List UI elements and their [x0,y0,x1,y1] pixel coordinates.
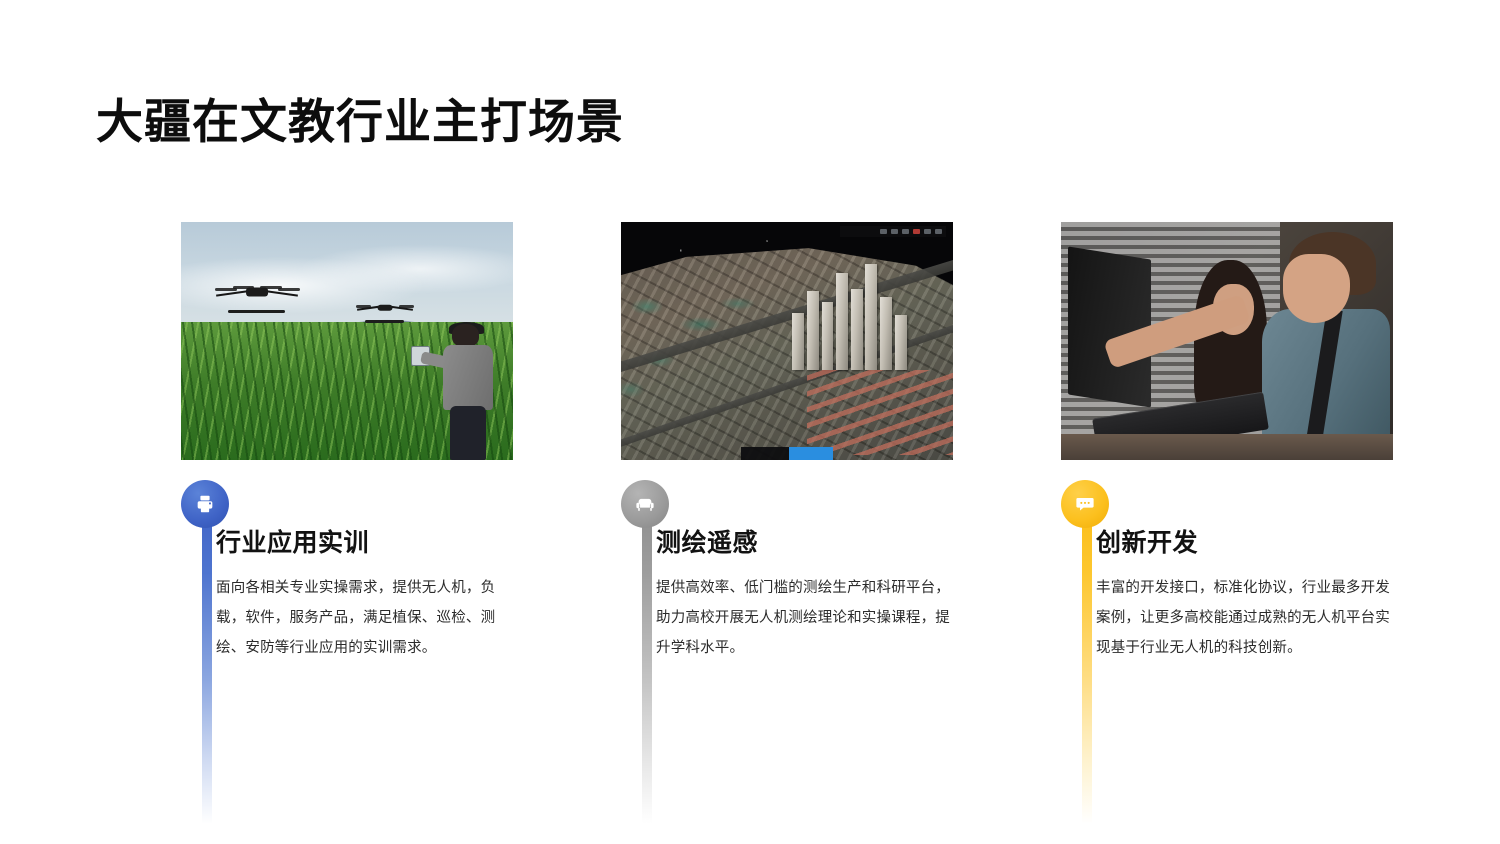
pin-stem [202,502,212,824]
viewer-toolbar[interactable] [840,226,946,238]
drone-icon [360,298,410,317]
scenario-description: 丰富的开发接口，标准化协议，行业最多开发案例，让更多高校能通过成熟的无人机平台实… [1096,574,1402,663]
man-figure [1257,232,1390,460]
armchair-icon-badge[interactable] [621,480,669,528]
scenario-column-innovation-development: 创新开发 丰富的开发接口，标准化协议，行业最多开发案例，让更多高校能通过成熟的无… [1061,222,1421,460]
scenario-description: 提供高效率、低门槛的测绘生产和科研平台，助力高校开展无人机测绘理论和实操课程，提… [656,574,962,663]
office-collaboration-photo [1061,222,1393,460]
printer-icon [194,493,216,515]
drone-icon [221,279,294,305]
agricultural-drone-field-photo [181,222,513,460]
scenario-column-surveying-remote-sensing: 测绘遥感 提供高效率、低门槛的测绘生产和科研平台，助力高校开展无人机测绘理论和实… [621,222,981,460]
viewer-primary-button[interactable] [789,447,834,460]
viewer-bottom-bar[interactable] [741,447,834,460]
scenario-column-industry-application-training: 行业应用实训 面向各相关专业实操需求，提供无人机，负载，软件，服务产品，满足植保… [181,222,541,460]
3d-city-model-photo [621,222,953,460]
chat-bubble-icon-badge[interactable] [1061,480,1109,528]
pin-stem [642,502,652,824]
scenario-text-block: 行业应用实训 面向各相关专业实操需求，提供无人机，负载，软件，服务产品，满足植保… [216,528,522,663]
desk-layer [1061,434,1393,460]
armchair-icon [634,493,656,515]
pin-stem [1082,502,1092,824]
scenario-text-block: 测绘遥感 提供高效率、低门槛的测绘生产和科研平台，助力高校开展无人机测绘理论和实… [656,528,962,663]
scenario-description: 面向各相关专业实操需求，提供无人机，负载，软件，服务产品，满足植保、巡检、测绘、… [216,574,522,663]
scenario-text-block: 创新开发 丰富的开发接口，标准化协议，行业最多开发案例，让更多高校能通过成熟的无… [1096,528,1402,663]
slide-canvas: 大疆在文教行业主打场景 [0,0,1500,844]
page-title: 大疆在文教行业主打场景 [96,95,624,149]
chat-bubble-icon [1074,493,1096,515]
scenario-title: 行业应用实训 [216,528,522,559]
sky-layer [181,222,513,324]
scenario-title: 测绘遥感 [656,528,962,559]
tower-cluster-layer [787,260,920,369]
monitor-layer [1068,246,1151,407]
drone-operator-figure [440,324,496,460]
scenario-title: 创新开发 [1096,528,1402,559]
red-roof-buildings-layer [807,370,953,456]
printer-icon-badge[interactable] [181,480,229,528]
